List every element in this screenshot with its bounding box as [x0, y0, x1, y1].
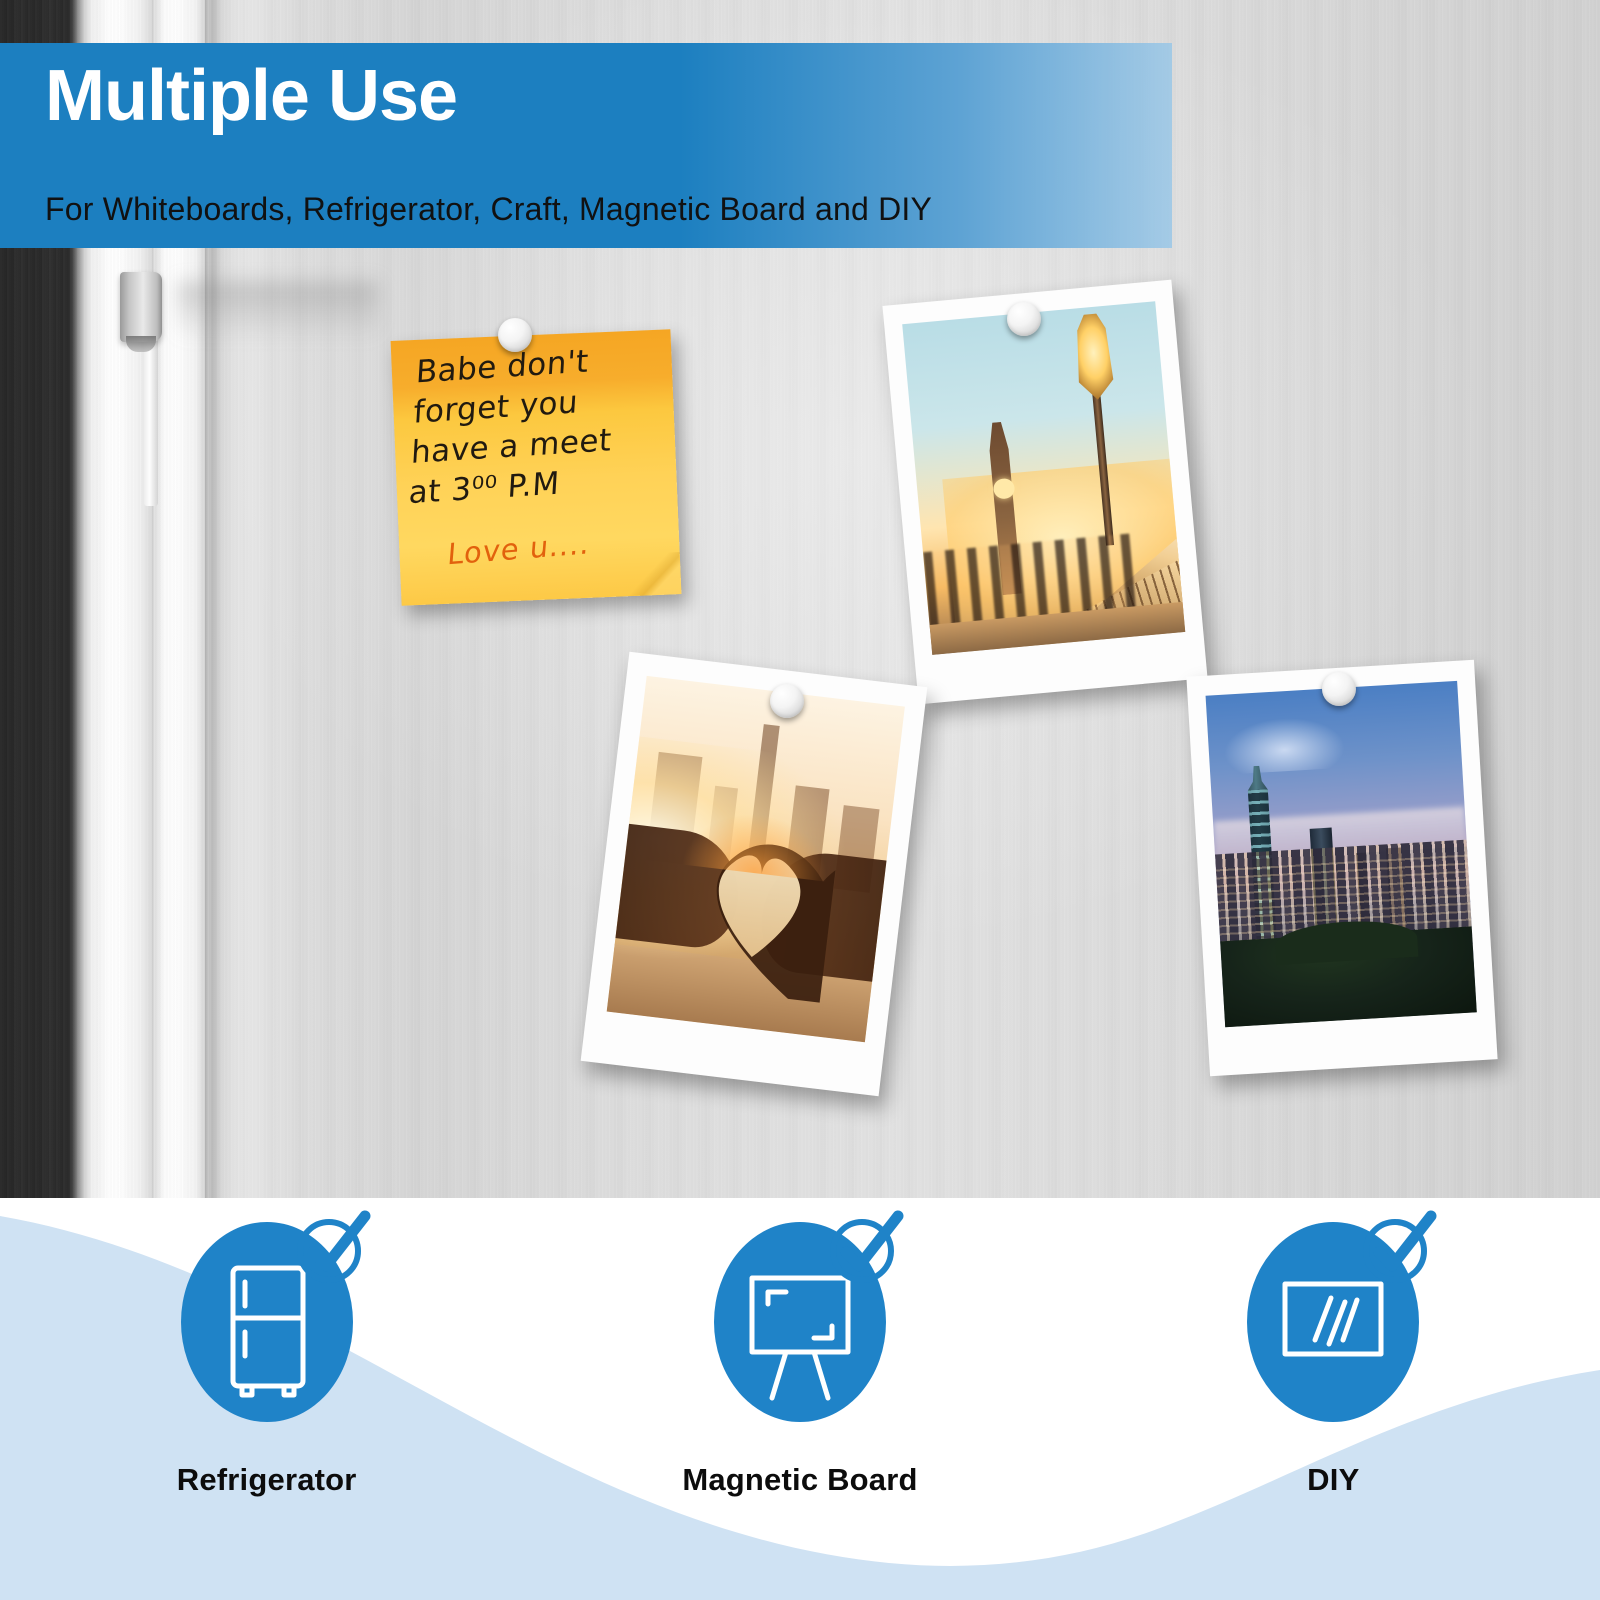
magnet-sticky-note [498, 318, 532, 352]
banner: Multiple Use For Whiteboards, Refrigerat… [0, 43, 1172, 248]
diy-icon-wrap [1233, 1216, 1433, 1416]
sticky-note-body: Babe don't forget you have a meet at 3⁰⁰… [408, 337, 667, 514]
photo-heart-hands [581, 652, 928, 1097]
sticky-note-signoff: Love u.... [446, 526, 591, 571]
magnet-photo-taipei [1322, 672, 1356, 706]
check-badge-icon [822, 1206, 906, 1290]
photo-big-ben-image [902, 301, 1185, 655]
photo-taipei-skyline-image [1206, 681, 1477, 1027]
photo-heart-hands-image [607, 676, 905, 1042]
feature-label-refrigerator: Refrigerator [177, 1462, 357, 1498]
photo-taipei-skyline [1186, 660, 1497, 1076]
product-infographic: Multiple Use For Whiteboards, Refrigerat… [0, 0, 1600, 1600]
foreground-trees [1220, 926, 1477, 1027]
lamppost-lantern [1065, 312, 1123, 403]
check-badge-icon [289, 1206, 373, 1290]
photo-big-ben [882, 280, 1207, 705]
magnet-photo-big-ben [1007, 302, 1041, 336]
banner-title: Multiple Use [45, 60, 457, 132]
refrigerator-icon-wrap [167, 1216, 367, 1416]
check-badge-icon [1355, 1206, 1439, 1290]
feature-item-refrigerator[interactable]: Refrigerator [0, 1198, 533, 1498]
refrigerator-handle-bracket [120, 272, 162, 342]
magnet-photo-heart-hands [770, 684, 804, 718]
sticky-note: Babe don't forget you have a meet at 3⁰⁰… [391, 329, 682, 605]
feature-label-magnetic-board: Magnetic Board [682, 1462, 917, 1498]
feature-item-magnetic-board[interactable]: Magnetic Board [533, 1198, 1066, 1498]
banner-subtitle: For Whiteboards, Refrigerator, Craft, Ma… [45, 191, 932, 228]
features-panel: Refrigerator [0, 1198, 1600, 1600]
refrigerator-scene: Multiple Use For Whiteboards, Refrigerat… [0, 0, 1600, 1200]
feature-list: Refrigerator [0, 1198, 1600, 1600]
cloud [1222, 714, 1346, 774]
feature-item-diy[interactable]: DIY [1067, 1198, 1600, 1498]
magnetic-board-icon-wrap [700, 1216, 900, 1416]
feature-label-diy: DIY [1307, 1462, 1359, 1498]
